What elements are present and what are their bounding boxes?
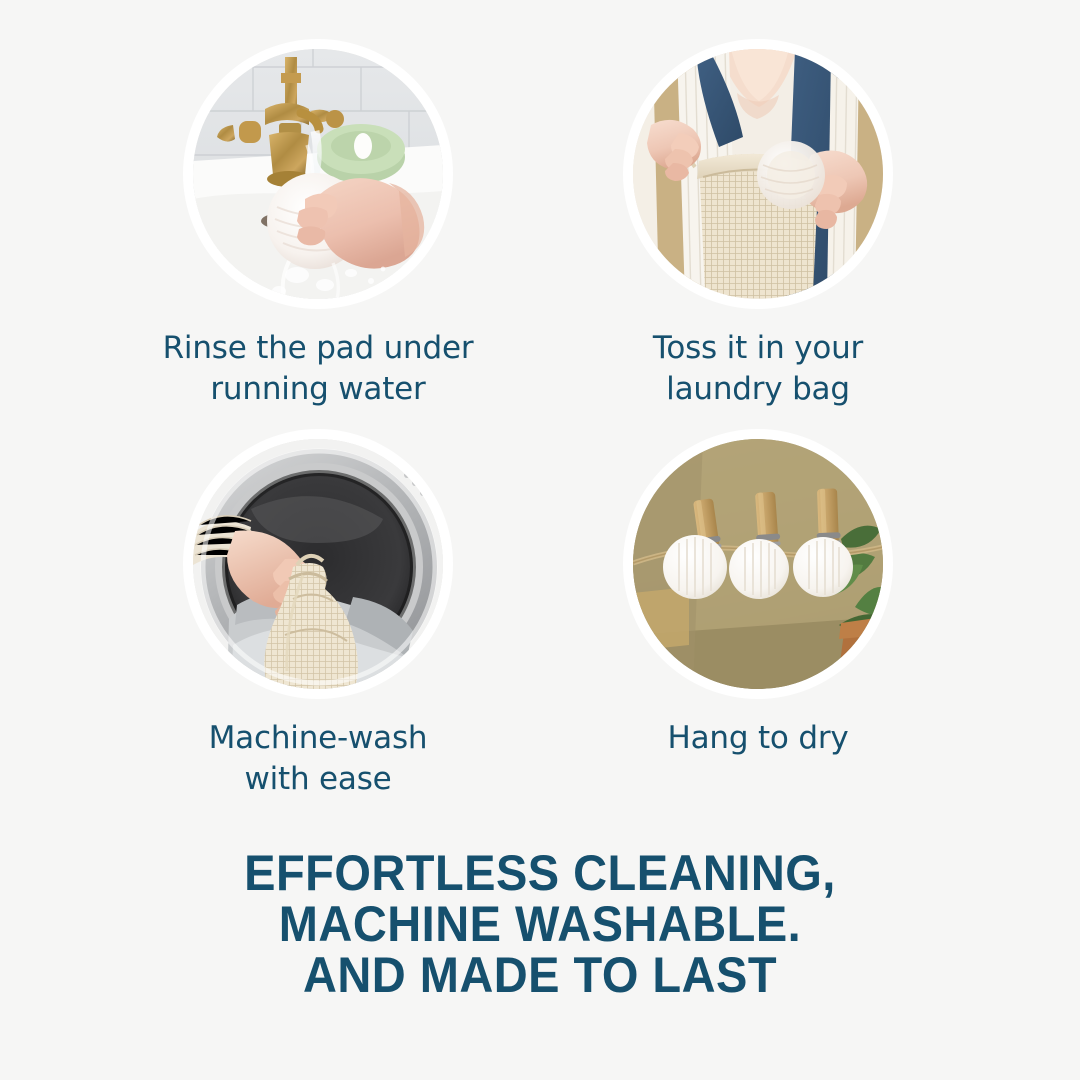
step-caption: Hang to dry [538,718,978,759]
photo-ring-hang-dry [624,430,892,698]
photo-pads-hanging-on-clothesline-with-clothespins [633,439,883,689]
steps-grid: Rinse the pad under running water [0,0,1080,810]
headline-line-2: MACHINE WASHABLE. [32,899,1047,950]
headline-line-3: AND MADE TO LAST [32,950,1047,1001]
step-card-machine-wash: Machine-wash with ease [98,430,538,800]
step-caption: Toss it in your laundry bag [538,328,978,410]
infographic-page: Rinse the pad under running water [0,0,1080,1080]
step-caption: Rinse the pad under running water [98,328,538,410]
headline: EFFORTLESS CLEANING, MACHINE WASHABLE. A… [32,848,1047,1001]
photo-hand-placing-mesh-bag-into-washing-machine [193,439,443,689]
photo-ring-rinse [184,40,452,308]
step-card-toss: Toss it in your laundry bag [538,40,978,410]
step-card-hang-dry: Hang to dry [538,430,978,759]
step-card-rinse: Rinse the pad under running water [98,40,538,410]
photo-hand-rinsing-reusable-pad-under-brass-faucet [193,49,443,299]
photo-ring-machine-wash [184,430,452,698]
photo-person-dropping-pad-into-mesh-laundry-bag [633,49,883,299]
step-caption: Machine-wash with ease [98,718,538,800]
headline-line-1: EFFORTLESS CLEANING, [32,848,1047,899]
photo-ring-toss [624,40,892,308]
